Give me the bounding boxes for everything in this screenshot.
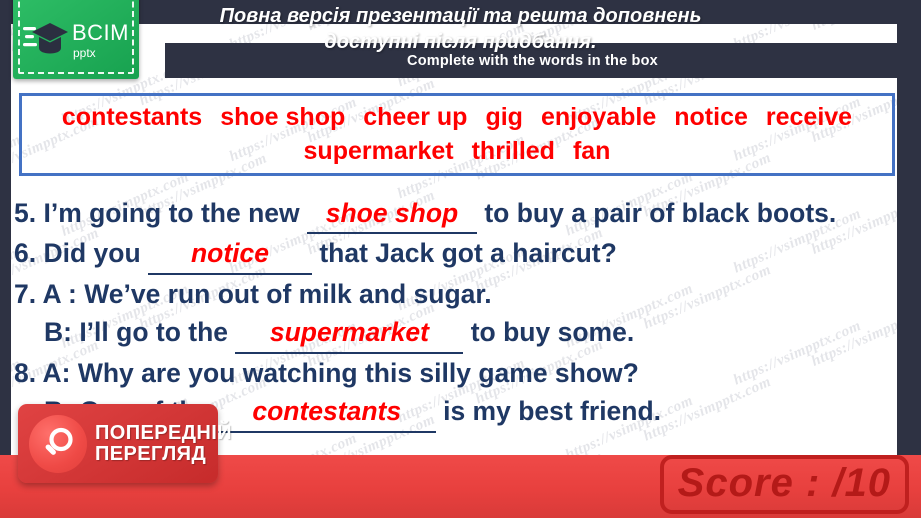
preview-badge-line-2: ПЕРЕГЛЯД [95,444,232,464]
speaker-b-text-after: is my best friend. [436,396,661,426]
answer-blank-8[interactable]: contestants [218,392,436,432]
item-number: 5. [14,198,36,228]
magnifier-icon [29,415,87,473]
word-bank-line-1: contestantsshoe shopcheer upgigenjoyable… [53,101,861,135]
speaker-b-text-after: to buy some. [463,317,634,347]
purchase-banner-text: Повна версія презентації та решта доповн… [0,4,921,55]
word-bank-item: shoe shop [220,103,345,131]
item-number: 6. [14,238,36,268]
exercise-sentences: 5. I’m going to the new shoe shop to buy… [14,194,894,433]
slide-frame-left [0,0,11,518]
word-bank-line-2: supermarketthrilledfan [295,135,620,169]
word-bank-box: contestantsshoe shopcheer upgigenjoyable… [19,93,895,176]
answer-blank-6[interactable]: notice [148,234,312,274]
purchase-banner-line-1: Повна версія презентації та решта доповн… [0,4,921,30]
word-bank-item: enjoyable [541,103,656,131]
word-bank-item: notice [674,103,748,131]
exercise-item-5: 5. I’m going to the new shoe shop to buy… [14,194,854,234]
score-badge: Score : /10 [660,455,909,514]
word-bank-item: cheer up [363,103,467,131]
item-text-before: Did you [36,238,148,268]
word-bank-item: contestants [62,103,202,131]
speaker-b-text-before: B: I’ll go to the [44,317,235,347]
answer-blank-7[interactable]: supermarket [235,313,463,353]
word-bank-item: gig [485,103,523,131]
slide-frame-right [897,0,921,518]
speaker-a-text: A: Why are you watching this silly game … [36,358,639,388]
preview-badge: ПОПЕРЕДНІЙ ПЕРЕГЛЯД [18,404,218,483]
answer-blank-5[interactable]: shoe shop [307,194,477,234]
item-text-before: I’m going to the new [36,198,307,228]
exercise-item-6: 6. Did you notice that Jack got a haircu… [14,234,894,274]
score-total: /10 [832,461,891,505]
word-bank-item: receive [766,103,852,131]
item-text-after: to buy a pair of black boots. [477,198,836,228]
slide-root: https://vsimpptx.comhttps://vsimpptx.com… [0,0,921,518]
preview-badge-labels: ПОПЕРЕДНІЙ ПЕРЕГЛЯД [95,423,232,464]
purchase-banner-line-2: доступні після придбання. [0,30,921,56]
item-number: 8. [14,358,36,388]
word-bank-item: fan [573,137,611,165]
exercise-item-7-a: 7. A : We’ve run out of milk and sugar. [14,275,894,313]
item-number: 7. [14,279,36,309]
preview-badge-line-1: ПОПЕРЕДНІЙ [95,423,232,443]
exercise-item-8-a: 8. A: Why are you watching this silly ga… [14,354,894,392]
word-bank-item: thrilled [472,137,555,165]
exercise-item-7-b: B: I’ll go to the supermarket to buy som… [14,313,894,353]
score-label: Score : [678,461,821,505]
item-text-after: that Jack got a haircut? [312,238,617,268]
word-bank-item: supermarket [304,137,454,165]
speaker-a-text: A : We’ve run out of milk and sugar. [36,279,491,309]
